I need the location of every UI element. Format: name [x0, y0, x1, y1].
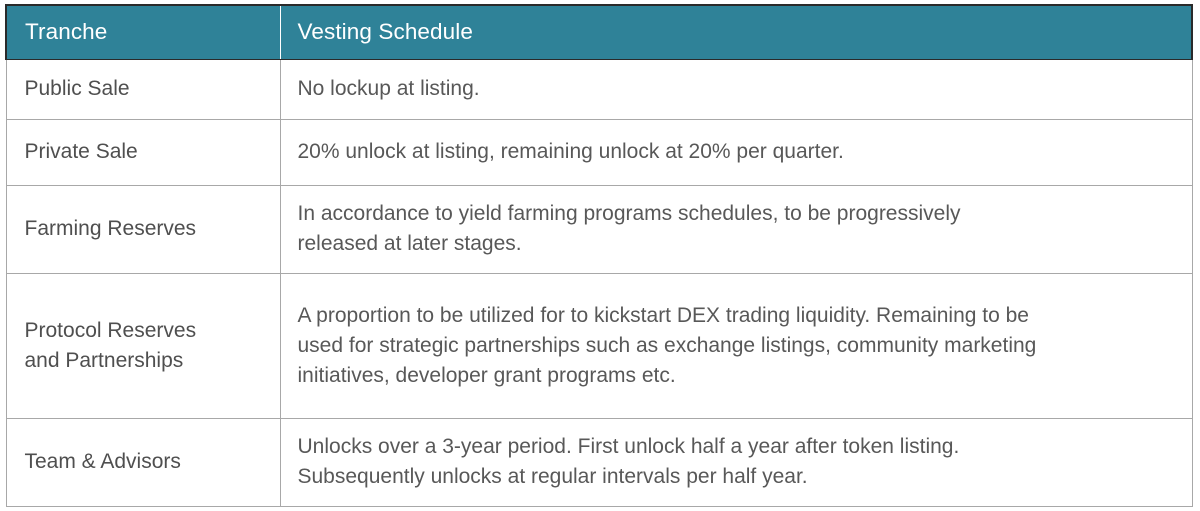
cell-vesting-schedule: A proportion to be utilized for to kicks… — [280, 274, 1192, 419]
vesting-schedule-line: In accordance to yield farming programs … — [298, 199, 1172, 229]
page-canvas: Tranche Vesting Schedule Public SaleNo l… — [0, 0, 1200, 511]
cell-vesting-schedule: No lockup at listing. — [280, 60, 1192, 120]
table-row: Protocol Reservesand PartnershipsA propo… — [6, 274, 1192, 419]
cell-tranche: Farming Reserves — [6, 186, 280, 274]
cell-vesting-schedule: 20% unlock at listing, remaining unlock … — [280, 120, 1192, 186]
tranche-line: Team & Advisors — [25, 447, 272, 477]
cell-tranche: Public Sale — [6, 60, 280, 120]
vesting-schedule-line: Unlocks over a 3-year period. First unlo… — [298, 432, 1172, 462]
tranche-line: Public Sale — [25, 74, 272, 104]
cell-tranche: Team & Advisors — [6, 419, 280, 507]
table-header-row: Tranche Vesting Schedule — [6, 5, 1192, 60]
tranche-line: Farming Reserves — [25, 214, 272, 244]
vesting-schedule-line: A proportion to be utilized for to kicks… — [298, 301, 1172, 331]
table-row: Private Sale20% unlock at listing, remai… — [6, 120, 1192, 186]
tranche-line: and Partnerships — [25, 346, 272, 376]
cell-tranche: Private Sale — [6, 120, 280, 186]
cell-vesting-schedule: In accordance to yield farming programs … — [280, 186, 1192, 274]
column-header-vesting-schedule: Vesting Schedule — [280, 5, 1192, 60]
vesting-schedule-line: released at later stages. — [298, 229, 1172, 259]
cell-vesting-schedule: Unlocks over a 3-year period. First unlo… — [280, 419, 1192, 507]
tranche-line: Private Sale — [25, 137, 272, 167]
vesting-schedule-line: initiatives, developer grant programs et… — [298, 361, 1172, 391]
table-header: Tranche Vesting Schedule — [6, 5, 1192, 60]
token-vesting-schedule-table: Tranche Vesting Schedule Public SaleNo l… — [5, 4, 1193, 507]
table-body: Public SaleNo lockup at listing.Private … — [6, 60, 1192, 507]
vesting-schedule-line: No lockup at listing. — [298, 74, 1172, 104]
table-row: Farming ReservesIn accordance to yield f… — [6, 186, 1192, 274]
column-header-tranche: Tranche — [6, 5, 280, 60]
tranche-line: Protocol Reserves — [25, 316, 272, 346]
cell-tranche: Protocol Reservesand Partnerships — [6, 274, 280, 419]
vesting-schedule-line: used for strategic partnerships such as … — [298, 331, 1172, 361]
vesting-schedule-line: 20% unlock at listing, remaining unlock … — [298, 137, 1172, 167]
vesting-schedule-line: Subsequently unlocks at regular interval… — [298, 462, 1172, 492]
table-row: Public SaleNo lockup at listing. — [6, 60, 1192, 120]
table-row: Team & AdvisorsUnlocks over a 3-year per… — [6, 419, 1192, 507]
